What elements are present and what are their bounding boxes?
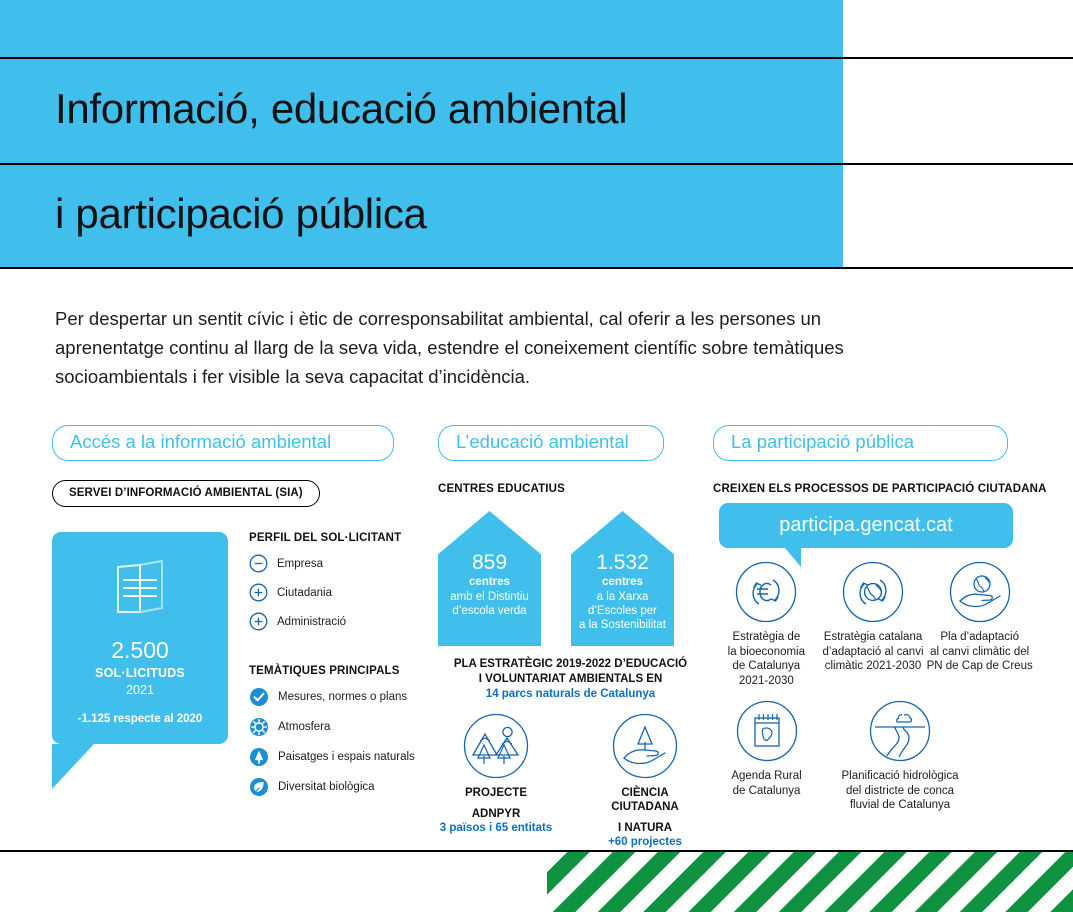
participation-row-1: Estratègia de la bioeconomia de Cataluny… <box>713 561 1033 688</box>
plus-circle-icon <box>249 612 268 631</box>
sol-licituds-number: 2.500 <box>52 637 228 664</box>
house-stat-escola-verda: 859 centres amb el Distintiu d’escola ve… <box>438 511 541 646</box>
project-adnpyr: PROJECTE ADNPYR 3 països i 65 entitats <box>438 713 554 849</box>
leaf-circle-icon <box>249 777 269 797</box>
header-rule-bottom <box>0 267 1073 269</box>
caption-line: al canvi climàtic del <box>926 645 1033 660</box>
sol-licituds-delta: -1.125 respecte al 2020 <box>52 713 228 725</box>
project-ciencia-ciutadana: CIÈNCIA CIUTADANA I NATURA +60 projectes <box>587 713 703 849</box>
list-item: Diversitat biològica <box>249 777 415 797</box>
project-value: +60 projectes <box>587 835 703 849</box>
project-name-line1: CIÈNCIA CIUTADANA <box>587 786 703 814</box>
sol-licituds-bubble: 2.500 SOL·LICITUDS 2021 -1.125 respecte … <box>52 532 228 744</box>
list-item: Empresa <box>249 554 401 573</box>
pla-line2: I VOLUNTARIAT AMBIENTALS EN <box>438 672 703 687</box>
tematiques-item-label: Diversitat biològica <box>278 781 375 793</box>
caption-line: PN de Cap de Creus <box>926 659 1033 674</box>
list-item: Mesures, normes o plans <box>249 687 415 707</box>
mountains-trees-icon <box>438 713 554 779</box>
caption-line: fluvial de Catalunya <box>820 798 980 813</box>
column-acces-informacio: Accés a la informació ambiental SERVEI D… <box>52 425 432 507</box>
list-item: Ciutadania <box>249 583 401 602</box>
check-circle-icon <box>249 687 269 707</box>
participa-url-text: participa.gencat.cat <box>779 514 952 537</box>
sol-licituds-year: 2021 <box>52 683 228 697</box>
river-landscape-icon <box>820 700 980 762</box>
euro-cycle-icon <box>713 561 820 623</box>
house-number: 859 <box>438 551 541 574</box>
sol-licituds-bubble-wrap: 2.500 SOL·LICITUDS 2021 -1.125 respecte … <box>52 532 228 744</box>
perfil-heading: PERFIL DEL SOL·LICITANT <box>249 532 401 544</box>
perfil-list: PERFIL DEL SOL·LICITANT Empresa Ciutadan… <box>249 532 401 631</box>
item-agenda-rural: Agenda Rural de Catalunya <box>713 700 820 813</box>
project-value: 3 països i 65 entitats <box>438 821 554 835</box>
minus-circle-icon <box>249 554 268 573</box>
tematiques-item-label: Mesures, normes o plans <box>278 691 407 703</box>
house-stat-xarxa-escoles: 1.532 centres a la Xarxa d’Escoles per a… <box>571 511 674 646</box>
projects-row: PROJECTE ADNPYR 3 països i 65 entitats C… <box>438 713 703 849</box>
house-desc-line: a la Sostenibilitat <box>571 618 674 632</box>
caption-line: de Catalunya <box>713 659 820 674</box>
tematiques-item-label: Paisatges i espais naturals <box>278 751 415 763</box>
list-item: Administració <box>249 612 401 631</box>
participation-icon-grid: Estratègia de la bioeconomia de Cataluny… <box>713 561 1033 813</box>
pla-line3: 14 parcs naturals de Catalunya <box>438 687 703 702</box>
perfil-item-label: Ciutadania <box>277 587 332 599</box>
project-name-line2: ADNPYR <box>438 807 554 821</box>
house-number: 1.532 <box>571 551 674 574</box>
caption-line: Pla d’adaptació <box>926 630 1033 645</box>
participation-row-2: Agenda Rural de Catalunya <box>713 700 1033 813</box>
plus-circle-icon <box>249 583 268 602</box>
sol-licituds-label: SOL·LICITUDS <box>52 666 228 680</box>
processos-heading: CREIXEN ELS PROCESSOS DE PARTICIPACIÓ CI… <box>713 483 1033 495</box>
intro-paragraph: Per despertar un sentit cívic i ètic de … <box>55 304 855 391</box>
col3-section-pill: La participació pública <box>713 425 1008 461</box>
col2-section-pill: L’educació ambiental <box>438 425 664 461</box>
centres-educatius-heading: CENTRES EDUCATIUS <box>438 483 703 495</box>
tree-circle-icon <box>249 747 269 767</box>
globe-cycle-icon <box>820 561 927 623</box>
item-planificacio-hidrologica: Planificació hidrològica del districte d… <box>820 700 980 813</box>
calendar-map-icon <box>713 700 820 762</box>
header-rule-top <box>0 57 1073 59</box>
document-icon <box>112 556 168 623</box>
atmosphere-icon <box>249 717 269 737</box>
caption-line: Estratègia de <box>713 630 820 645</box>
header-rule-mid <box>0 163 1073 165</box>
green-stripes-decoration <box>547 852 1073 912</box>
tematiques-item-label: Atmosfera <box>278 721 330 733</box>
perfil-item-label: Empresa <box>277 558 323 570</box>
caption-line: del districte de conca <box>820 784 980 799</box>
col1-section-pill: Accés a la informació ambiental <box>52 425 394 461</box>
bubble-tail <box>52 744 94 789</box>
caption-line: d’adaptació al canvi <box>820 645 927 660</box>
caption-line: de Catalunya <box>713 784 820 799</box>
column-participacio-publica: La participació pública CREIXEN ELS PROC… <box>713 425 1033 495</box>
page-title-line2: i participació pública <box>55 190 427 238</box>
column-educacio-ambiental: L’educació ambiental CENTRES EDUCATIUS 8… <box>438 425 703 495</box>
caption-line: climàtic 2021-2030 <box>820 659 927 674</box>
item-bioeconomia: Estratègia de la bioeconomia de Cataluny… <box>713 561 820 688</box>
project-name-line2: I NATURA <box>587 821 703 835</box>
col1-sia-badge: SERVEI D’INFORMACIÓ AMBIENTAL (SIA) <box>52 480 320 507</box>
page-title-line1: Informació, educació ambiental <box>55 85 627 133</box>
house-desc-line: amb el Distintiu <box>438 590 541 604</box>
participa-url-bubble[interactable]: participa.gencat.cat <box>719 503 1013 548</box>
house-unit: centres <box>571 575 674 590</box>
perfil-item-label: Administració <box>277 616 346 628</box>
infographic-page: Informació, educació ambiental i partici… <box>0 0 1073 912</box>
caption-line: Planificació hidrològica <box>820 769 980 784</box>
item-pla-adaptacio-creus: Pla d’adaptació al canvi climàtic del PN… <box>926 561 1033 688</box>
house-desc-line: a la Xarxa <box>571 590 674 604</box>
list-item: Atmosfera <box>249 717 415 737</box>
project-name-line1: PROJECTE <box>438 786 554 800</box>
item-estrategia-catalana: Estratègia catalana d’adaptació al canvi… <box>820 561 927 688</box>
hand-globe-icon <box>926 561 1033 623</box>
caption-line: 2021-2030 <box>713 674 820 689</box>
house-desc-line: d’Escoles per <box>571 604 674 618</box>
caption-line: Estratègia catalana <box>820 630 927 645</box>
tematiques-heading: TEMÀTIQUES PRINCIPALS <box>249 665 415 677</box>
pla-estrategic-block: PLA ESTRATÈGIC 2019-2022 D’EDUCACIÓ I VO… <box>438 657 703 702</box>
centres-houses: 859 centres amb el Distintiu d’escola ve… <box>438 511 703 646</box>
list-item: Paisatges i espais naturals <box>249 747 415 767</box>
caption-line: la bioeconomia <box>713 645 820 660</box>
hand-tree-icon <box>587 713 703 779</box>
house-desc-line: d’escola verda <box>438 604 541 618</box>
caption-line: Agenda Rural <box>713 769 820 784</box>
pla-line1: PLA ESTRATÈGIC 2019-2022 D’EDUCACIÓ <box>438 657 703 672</box>
tematiques-list: TEMÀTIQUES PRINCIPALS Mesures, normes o … <box>249 665 415 797</box>
house-unit: centres <box>438 575 541 590</box>
